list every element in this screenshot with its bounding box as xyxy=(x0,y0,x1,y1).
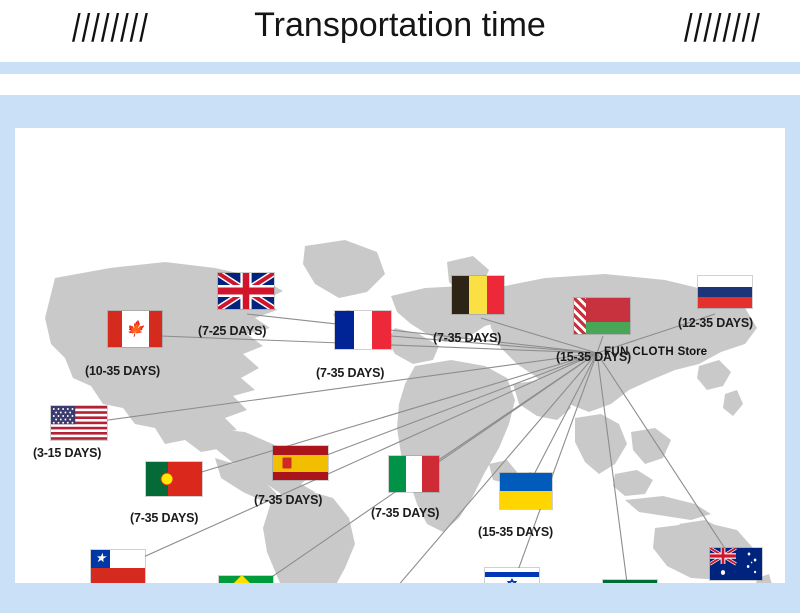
map-section-background: FUN CLOTH Store 🍁 xyxy=(0,95,800,613)
flag-belgium xyxy=(452,276,504,314)
flag-portugal xyxy=(146,462,202,496)
shipping-time-label-portugal: (7-35 DAYS) xyxy=(130,511,198,525)
shipping-time-label-belarus: (15-35 DAYS) xyxy=(556,350,631,364)
world-map-panel: FUN CLOTH Store 🍁 xyxy=(15,128,785,583)
divider-band-top xyxy=(0,62,800,74)
flag-ukraine xyxy=(500,473,552,509)
flag-saudi: ▮▮▮▮ xyxy=(603,580,657,583)
shipping-time-label-canada: (10-35 DAYS) xyxy=(85,364,160,378)
flag-australia xyxy=(710,548,762,580)
shipping-time-label-spain: (7-35 DAYS) xyxy=(254,493,322,507)
continents-layer xyxy=(45,240,779,583)
flag-brazil xyxy=(219,576,273,583)
flag-spain xyxy=(273,446,328,480)
shipping-time-label-ukraine: (15-35 DAYS) xyxy=(478,525,553,539)
shipping-time-label-uk: (7-25 DAYS) xyxy=(198,324,266,338)
decorative-slashes-left: //////// xyxy=(72,9,149,48)
shipping-time-label-russia: (12-35 DAYS) xyxy=(678,316,753,330)
header-bar: Transportation time //////// //////// xyxy=(0,0,800,62)
flag-russia xyxy=(698,276,752,308)
flag-italy xyxy=(389,456,439,492)
divider-gap xyxy=(0,74,800,95)
flag-usa xyxy=(51,406,107,440)
flag-chile: ★ xyxy=(91,550,145,583)
decorative-slashes-right: //////// xyxy=(684,9,761,48)
flag-uk xyxy=(218,273,274,309)
flag-canada: 🍁 xyxy=(108,311,162,347)
hub-store-suffix: Store xyxy=(678,346,707,358)
shipping-time-label-usa: (3-15 DAYS) xyxy=(33,446,101,460)
shipping-time-label-belgium: (7-35 DAYS) xyxy=(433,331,501,345)
shipping-time-label-france: (7-35 DAYS) xyxy=(316,366,384,380)
flag-belarus xyxy=(574,298,630,334)
flag-israel: ✡ xyxy=(485,568,539,583)
shipping-time-label-italy: (7-35 DAYS) xyxy=(371,506,439,520)
flag-france xyxy=(335,311,391,349)
